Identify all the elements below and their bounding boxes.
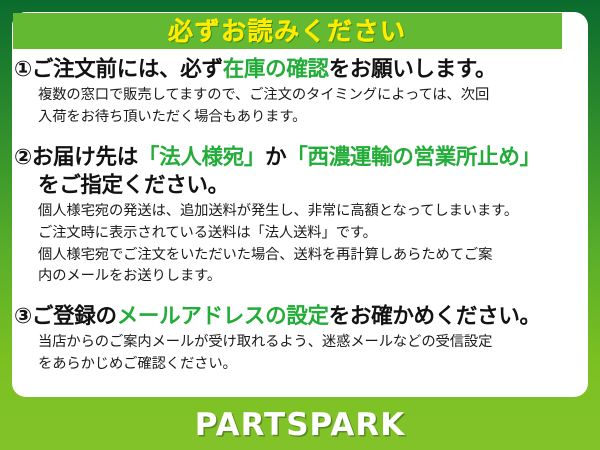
notice-item-3-body-line-2: をあらかじめご確認ください。 — [38, 354, 566, 376]
notice-item-3-body: 当店からのご案内メールが受け取れるよう、迷惑メールなどの受信設定 をあらかじめご… — [14, 332, 566, 375]
notice-item-2-heading-line-2: をご指定ください。 — [14, 172, 566, 200]
notice-poster: 必ずお読みください ①ご注文前には、必ず在庫の確認をお願いします。 複数の窓口で… — [0, 0, 600, 450]
notice-item-2-head-pre: お届け先は — [32, 145, 138, 170]
notice-item-list: ①ご注文前には、必ず在庫の確認をお願いします。 複数の窓口で販売してますので、ご… — [0, 56, 576, 378]
notice-item-2-body-line-4: 内のメールをお送りします。 — [38, 266, 566, 288]
notice-item-1-body-line-1: 複数の窓口で販売してますので、ご注文のタイミングによっては、次回 — [38, 85, 566, 107]
notice-item-2-body: 個人様宅宛の発送は、追加送料が発生し、非常に高額となってしまいます。 ご注文時に… — [14, 201, 566, 288]
spacer-2 — [14, 290, 566, 303]
title-bar: 必ずお読みください — [13, 13, 562, 49]
notice-item-3-head-post: をお確かめください。 — [329, 304, 541, 329]
notice-item-2-body-line-3: 個人様宅宛でご注文をいただいた場合、送料を再計算しあらためてご案 — [38, 245, 566, 267]
notice-item-2-marker: ② — [14, 145, 32, 170]
notice-item-3-marker: ③ — [14, 304, 32, 329]
notice-item-1-head-highlight: 在庫の確認 — [223, 57, 329, 82]
spacer-1 — [14, 130, 566, 144]
notice-item-1-body-line-2: 入荷をお待ち頂いただく場合もあります。 — [38, 107, 566, 129]
notice-item-2-body-line-1: 個人様宅宛の発送は、追加送料が発生し、非常に高額となってしまいます。 — [38, 201, 566, 223]
notice-item-3-heading: ③ご登録のメールアドレスの設定をお確かめください。 — [14, 303, 566, 331]
notice-item-2-head-highlight: 「法人様宛」 — [138, 145, 265, 170]
notice-item-3-head-pre: ご登録の — [32, 304, 117, 329]
notice-item-1: ①ご注文前には、必ず在庫の確認をお願いします。 複数の窓口で販売してますので、ご… — [14, 56, 566, 128]
notice-item-1-body: 複数の窓口で販売してますので、ご注文のタイミングによっては、次回 入荷をお待ち頂… — [14, 85, 566, 128]
notice-item-1-heading: ①ご注文前には、必ず在庫の確認をお願いします。 — [14, 56, 566, 84]
notice-item-2-head-mid: か — [265, 145, 286, 170]
notice-item-2: ②お届け先は「法人様宛」か「西濃運輸の営業所止め」 をご指定ください。 個人様宅… — [14, 144, 566, 288]
notice-item-3-head-highlight: メールアドレスの設定 — [117, 304, 329, 329]
notice-item-2-head-highlight-2: 「西濃運輸の営業所止め」 — [286, 145, 540, 170]
brand-footer: PARTSPARK — [0, 400, 600, 450]
notice-item-2-heading: ②お届け先は「法人様宛」か「西濃運輸の営業所止め」 — [14, 144, 566, 172]
notice-item-3-body-line-1: 当店からのご案内メールが受け取れるよう、迷惑メールなどの受信設定 — [38, 332, 566, 354]
page-title: 必ずお読みください — [168, 19, 407, 44]
brand-name: PARTSPARK — [195, 410, 406, 441]
notice-item-2-body-line-2: ご注文時に表示されている送料は「法人送料」です。 — [38, 223, 566, 245]
notice-item-1-head-post: をお願いします。 — [329, 57, 496, 82]
notice-item-3: ③ご登録のメールアドレスの設定をお確かめください。 当店からのご案内メールが受け… — [14, 303, 566, 375]
notice-item-1-head-pre: ご注文前には、必ず — [32, 57, 223, 82]
notice-item-1-marker: ① — [14, 57, 32, 82]
